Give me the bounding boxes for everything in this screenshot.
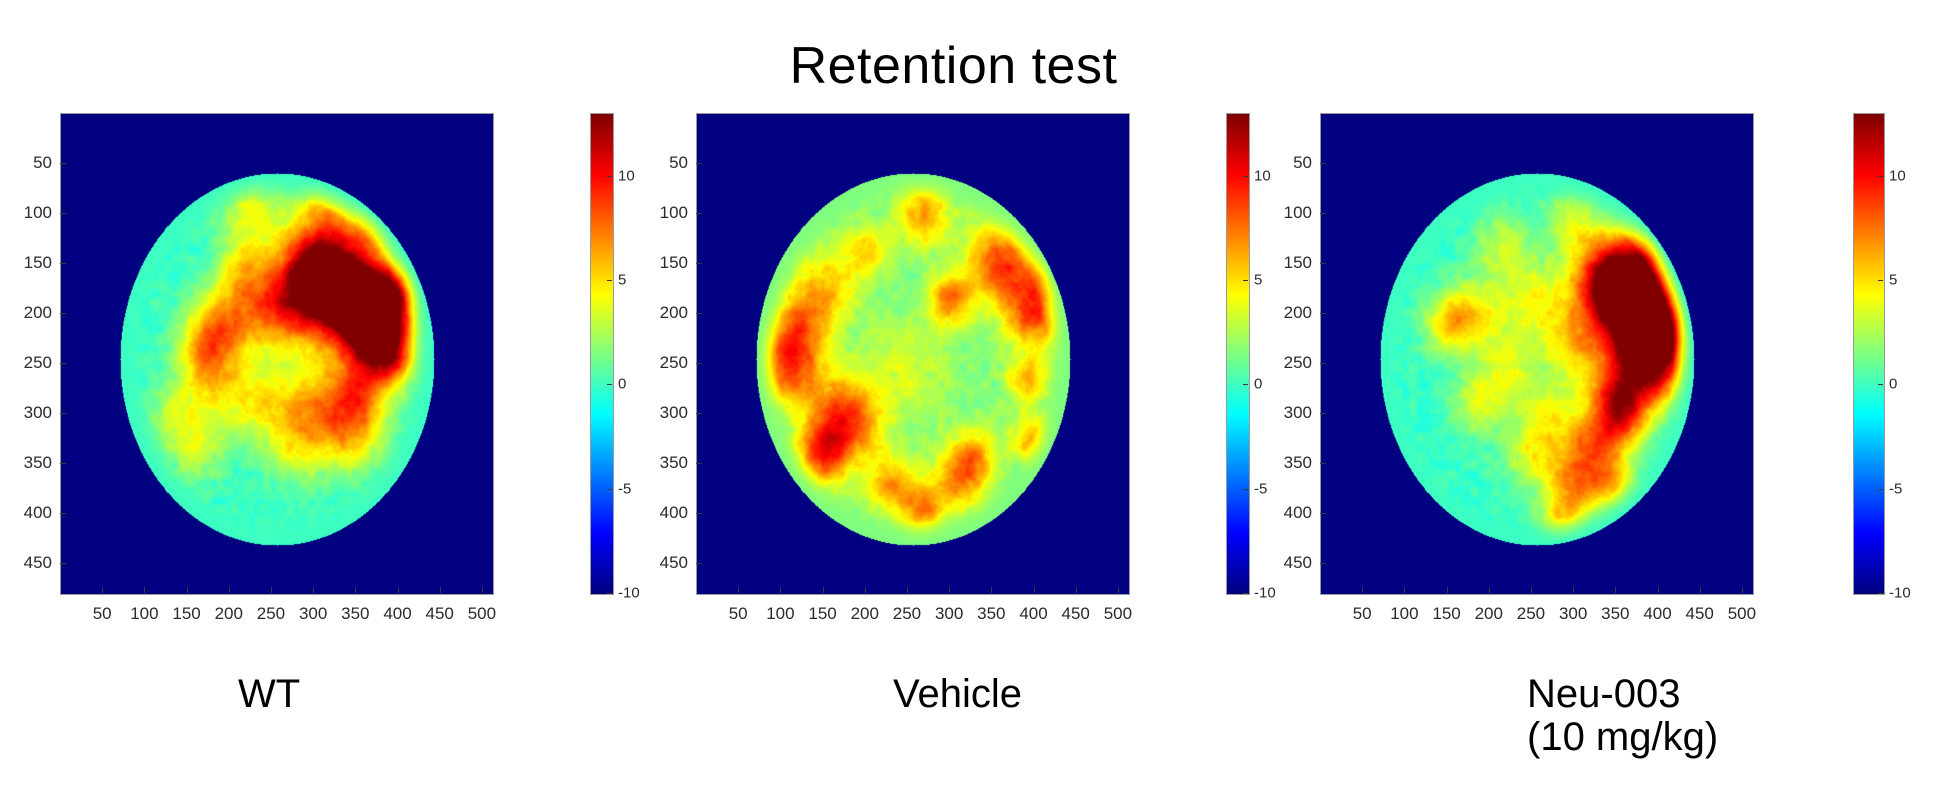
x-axis-tick-label: 50 (1353, 604, 1372, 624)
x-axis-tick-mark (1362, 587, 1363, 593)
x-axis-tick-label: 200 (851, 604, 879, 624)
y-axis-tick-mark (696, 363, 702, 364)
colorbar-tick-label: 0 (618, 376, 626, 393)
colorbar-tick-label: -10 (1254, 585, 1276, 602)
colorbar-tick-label: 10 (618, 167, 635, 184)
x-axis-tick-label: 400 (383, 604, 411, 624)
colorbar-gradient (1227, 114, 1249, 594)
colorbar-tick-mark (1878, 384, 1883, 385)
heatmap-axes (696, 113, 1130, 595)
y-axis-tick-label: 400 (1274, 503, 1312, 523)
y-axis-tick-label: 100 (1274, 203, 1312, 223)
x-axis-tick-label: 350 (341, 604, 369, 624)
y-axis-tick-mark (1320, 513, 1326, 514)
colorbar-tick-mark (1243, 384, 1248, 385)
x-axis-tick-mark (738, 587, 739, 593)
x-axis-tick-label: 500 (468, 604, 496, 624)
y-axis-tick-label: 100 (14, 203, 52, 223)
x-axis-tick-mark (1573, 587, 1574, 593)
x-axis-tick-label: 150 (808, 604, 836, 624)
y-axis-tick-label: 250 (1274, 353, 1312, 373)
colorbar-tick-label: 10 (1254, 167, 1271, 184)
x-axis-tick-label: 350 (1601, 604, 1629, 624)
y-axis-tick-mark (60, 263, 66, 264)
x-axis-tick-label: 200 (1475, 604, 1503, 624)
colorbar-tick-label: 5 (1254, 271, 1262, 288)
y-axis-tick-label: 350 (650, 453, 688, 473)
figure-title: Retention test (0, 36, 1939, 96)
colorbar-tick-mark (607, 593, 612, 594)
y-axis-tick-label: 200 (1274, 303, 1312, 323)
x-axis-tick-label: 450 (1686, 604, 1714, 624)
y-axis-tick-label: 150 (14, 253, 52, 273)
x-axis-tick-label: 50 (729, 604, 748, 624)
colorbar (1853, 113, 1885, 595)
y-axis-tick-mark (60, 363, 66, 364)
x-axis-tick-mark (271, 587, 272, 593)
x-axis-tick-label: 250 (1517, 604, 1545, 624)
y-axis-tick-mark (1320, 263, 1326, 264)
x-axis-tick-label: 350 (977, 604, 1005, 624)
y-axis-tick-label: 150 (1274, 253, 1312, 273)
x-axis-tick-label: 300 (935, 604, 963, 624)
y-axis-tick-mark (1320, 363, 1326, 364)
y-axis-tick-mark (60, 213, 66, 214)
y-axis-tick-mark (1320, 163, 1326, 164)
colorbar-tick-mark (607, 176, 612, 177)
x-axis-tick-label: 100 (1390, 604, 1418, 624)
y-axis-tick-mark (60, 163, 66, 164)
colorbar-tick-mark (607, 489, 612, 490)
x-axis-tick-mark (1404, 587, 1405, 593)
y-axis-tick-label: 100 (650, 203, 688, 223)
y-axis-tick-label: 300 (650, 403, 688, 423)
colorbar-tick-mark (1243, 593, 1248, 594)
y-axis-tick-label: 450 (650, 553, 688, 573)
x-axis-tick-mark (823, 587, 824, 593)
x-axis-tick-mark (144, 587, 145, 593)
y-axis-tick-label: 450 (14, 553, 52, 573)
x-axis-tick-label: 100 (766, 604, 794, 624)
x-axis-tick-mark (991, 587, 992, 593)
panel-caption-line: Neu-003 (1527, 673, 1718, 716)
x-axis-tick-mark (780, 587, 781, 593)
y-axis-tick-mark (696, 263, 702, 264)
x-axis-tick-mark (865, 587, 866, 593)
figure-title-text: Retention test (790, 36, 1118, 96)
x-axis-tick-label: 300 (299, 604, 327, 624)
x-axis-tick-mark (229, 587, 230, 593)
colorbar-tick-mark (1878, 176, 1883, 177)
heatmap-axes (1320, 113, 1754, 595)
y-axis-tick-label: 50 (650, 153, 688, 173)
x-axis-tick-mark (102, 587, 103, 593)
colorbar-tick-mark (607, 280, 612, 281)
x-axis-tick-mark (1076, 587, 1077, 593)
y-axis-tick-label: 50 (1274, 153, 1312, 173)
y-axis-tick-label: 450 (1274, 553, 1312, 573)
y-axis-tick-mark (60, 563, 66, 564)
x-axis-tick-mark (482, 587, 483, 593)
panel-caption-line: WT (238, 673, 300, 716)
colorbar-tick-mark (1243, 176, 1248, 177)
y-axis-tick-mark (60, 463, 66, 464)
x-axis-tick-mark (1658, 587, 1659, 593)
y-axis-tick-label: 150 (650, 253, 688, 273)
x-axis-tick-label: 200 (215, 604, 243, 624)
colorbar-tick-label: -5 (1889, 480, 1902, 497)
y-axis-tick-mark (1320, 463, 1326, 464)
x-axis-tick-mark (1531, 587, 1532, 593)
x-axis-tick-mark (907, 587, 908, 593)
y-axis-tick-label: 250 (14, 353, 52, 373)
y-axis-tick-mark (1320, 563, 1326, 564)
colorbar-tick-mark (1878, 280, 1883, 281)
colorbar-tick-label: -5 (1254, 480, 1267, 497)
y-axis-tick-mark (1320, 313, 1326, 314)
x-axis-tick-mark (187, 587, 188, 593)
x-axis-tick-label: 500 (1104, 604, 1132, 624)
x-axis-tick-label: 250 (893, 604, 921, 624)
x-axis-tick-label: 300 (1559, 604, 1587, 624)
colorbar-gradient (591, 114, 613, 594)
y-axis-tick-mark (696, 563, 702, 564)
colorbar (590, 113, 614, 595)
x-axis-tick-mark (949, 587, 950, 593)
colorbar-tick-label: -10 (618, 585, 640, 602)
y-axis-tick-label: 400 (650, 503, 688, 523)
panel-caption: Vehicle (893, 673, 1022, 716)
panel-caption: WT (238, 673, 300, 716)
y-axis-tick-label: 200 (650, 303, 688, 323)
colorbar-tick-label: -10 (1889, 585, 1911, 602)
y-axis-tick-mark (696, 213, 702, 214)
y-axis-tick-label: 250 (650, 353, 688, 373)
y-axis-tick-mark (60, 413, 66, 414)
y-axis-tick-label: 300 (1274, 403, 1312, 423)
heatmap-image (1321, 114, 1753, 594)
colorbar-tick-label: 0 (1254, 376, 1262, 393)
colorbar (1226, 113, 1250, 595)
colorbar-tick-mark (1878, 489, 1883, 490)
colorbar-tick-label: 5 (1889, 271, 1897, 288)
x-axis-tick-mark (1447, 587, 1448, 593)
y-axis-tick-label: 350 (1274, 453, 1312, 473)
x-axis-tick-mark (1742, 587, 1743, 593)
x-axis-tick-mark (398, 587, 399, 593)
heatmap-image (697, 114, 1129, 594)
x-axis-tick-mark (1615, 587, 1616, 593)
colorbar-gradient (1854, 114, 1884, 594)
x-axis-tick-label: 400 (1019, 604, 1047, 624)
y-axis-tick-label: 200 (14, 303, 52, 323)
colorbar-tick-mark (1243, 489, 1248, 490)
x-axis-tick-mark (440, 587, 441, 593)
colorbar-tick-mark (1243, 280, 1248, 281)
x-axis-tick-label: 500 (1728, 604, 1756, 624)
x-axis-tick-mark (1118, 587, 1119, 593)
y-axis-tick-mark (696, 163, 702, 164)
x-axis-tick-label: 150 (1432, 604, 1460, 624)
x-axis-tick-label: 450 (1062, 604, 1090, 624)
x-axis-tick-mark (1034, 587, 1035, 593)
y-axis-tick-mark (696, 463, 702, 464)
y-axis-tick-mark (1320, 213, 1326, 214)
x-axis-tick-label: 100 (130, 604, 158, 624)
x-axis-tick-label: 150 (172, 604, 200, 624)
y-axis-tick-mark (696, 413, 702, 414)
heatmap-image (61, 114, 493, 594)
panel-caption-line: (10 mg/kg) (1527, 716, 1718, 759)
x-axis-tick-mark (313, 587, 314, 593)
colorbar-tick-label: 10 (1889, 167, 1906, 184)
colorbar-tick-mark (607, 384, 612, 385)
colorbar-tick-label: 0 (1889, 376, 1897, 393)
x-axis-tick-label: 250 (257, 604, 285, 624)
x-axis-tick-mark (1700, 587, 1701, 593)
colorbar-tick-label: -5 (618, 480, 631, 497)
heatmap-axes (60, 113, 494, 595)
y-axis-tick-mark (696, 313, 702, 314)
y-axis-tick-mark (60, 513, 66, 514)
y-axis-tick-mark (1320, 413, 1326, 414)
y-axis-tick-mark (696, 513, 702, 514)
y-axis-tick-mark (60, 313, 66, 314)
y-axis-tick-label: 400 (14, 503, 52, 523)
x-axis-tick-label: 50 (93, 604, 112, 624)
x-axis-tick-mark (1489, 587, 1490, 593)
y-axis-tick-label: 50 (14, 153, 52, 173)
x-axis-tick-label: 450 (426, 604, 454, 624)
panel-caption-line: Vehicle (893, 673, 1022, 716)
colorbar-tick-mark (1878, 593, 1883, 594)
panel-caption: Neu-003(10 mg/kg) (1527, 673, 1718, 759)
y-axis-tick-label: 300 (14, 403, 52, 423)
colorbar-tick-label: 5 (618, 271, 626, 288)
y-axis-tick-label: 350 (14, 453, 52, 473)
x-axis-tick-mark (355, 587, 356, 593)
x-axis-tick-label: 400 (1643, 604, 1671, 624)
